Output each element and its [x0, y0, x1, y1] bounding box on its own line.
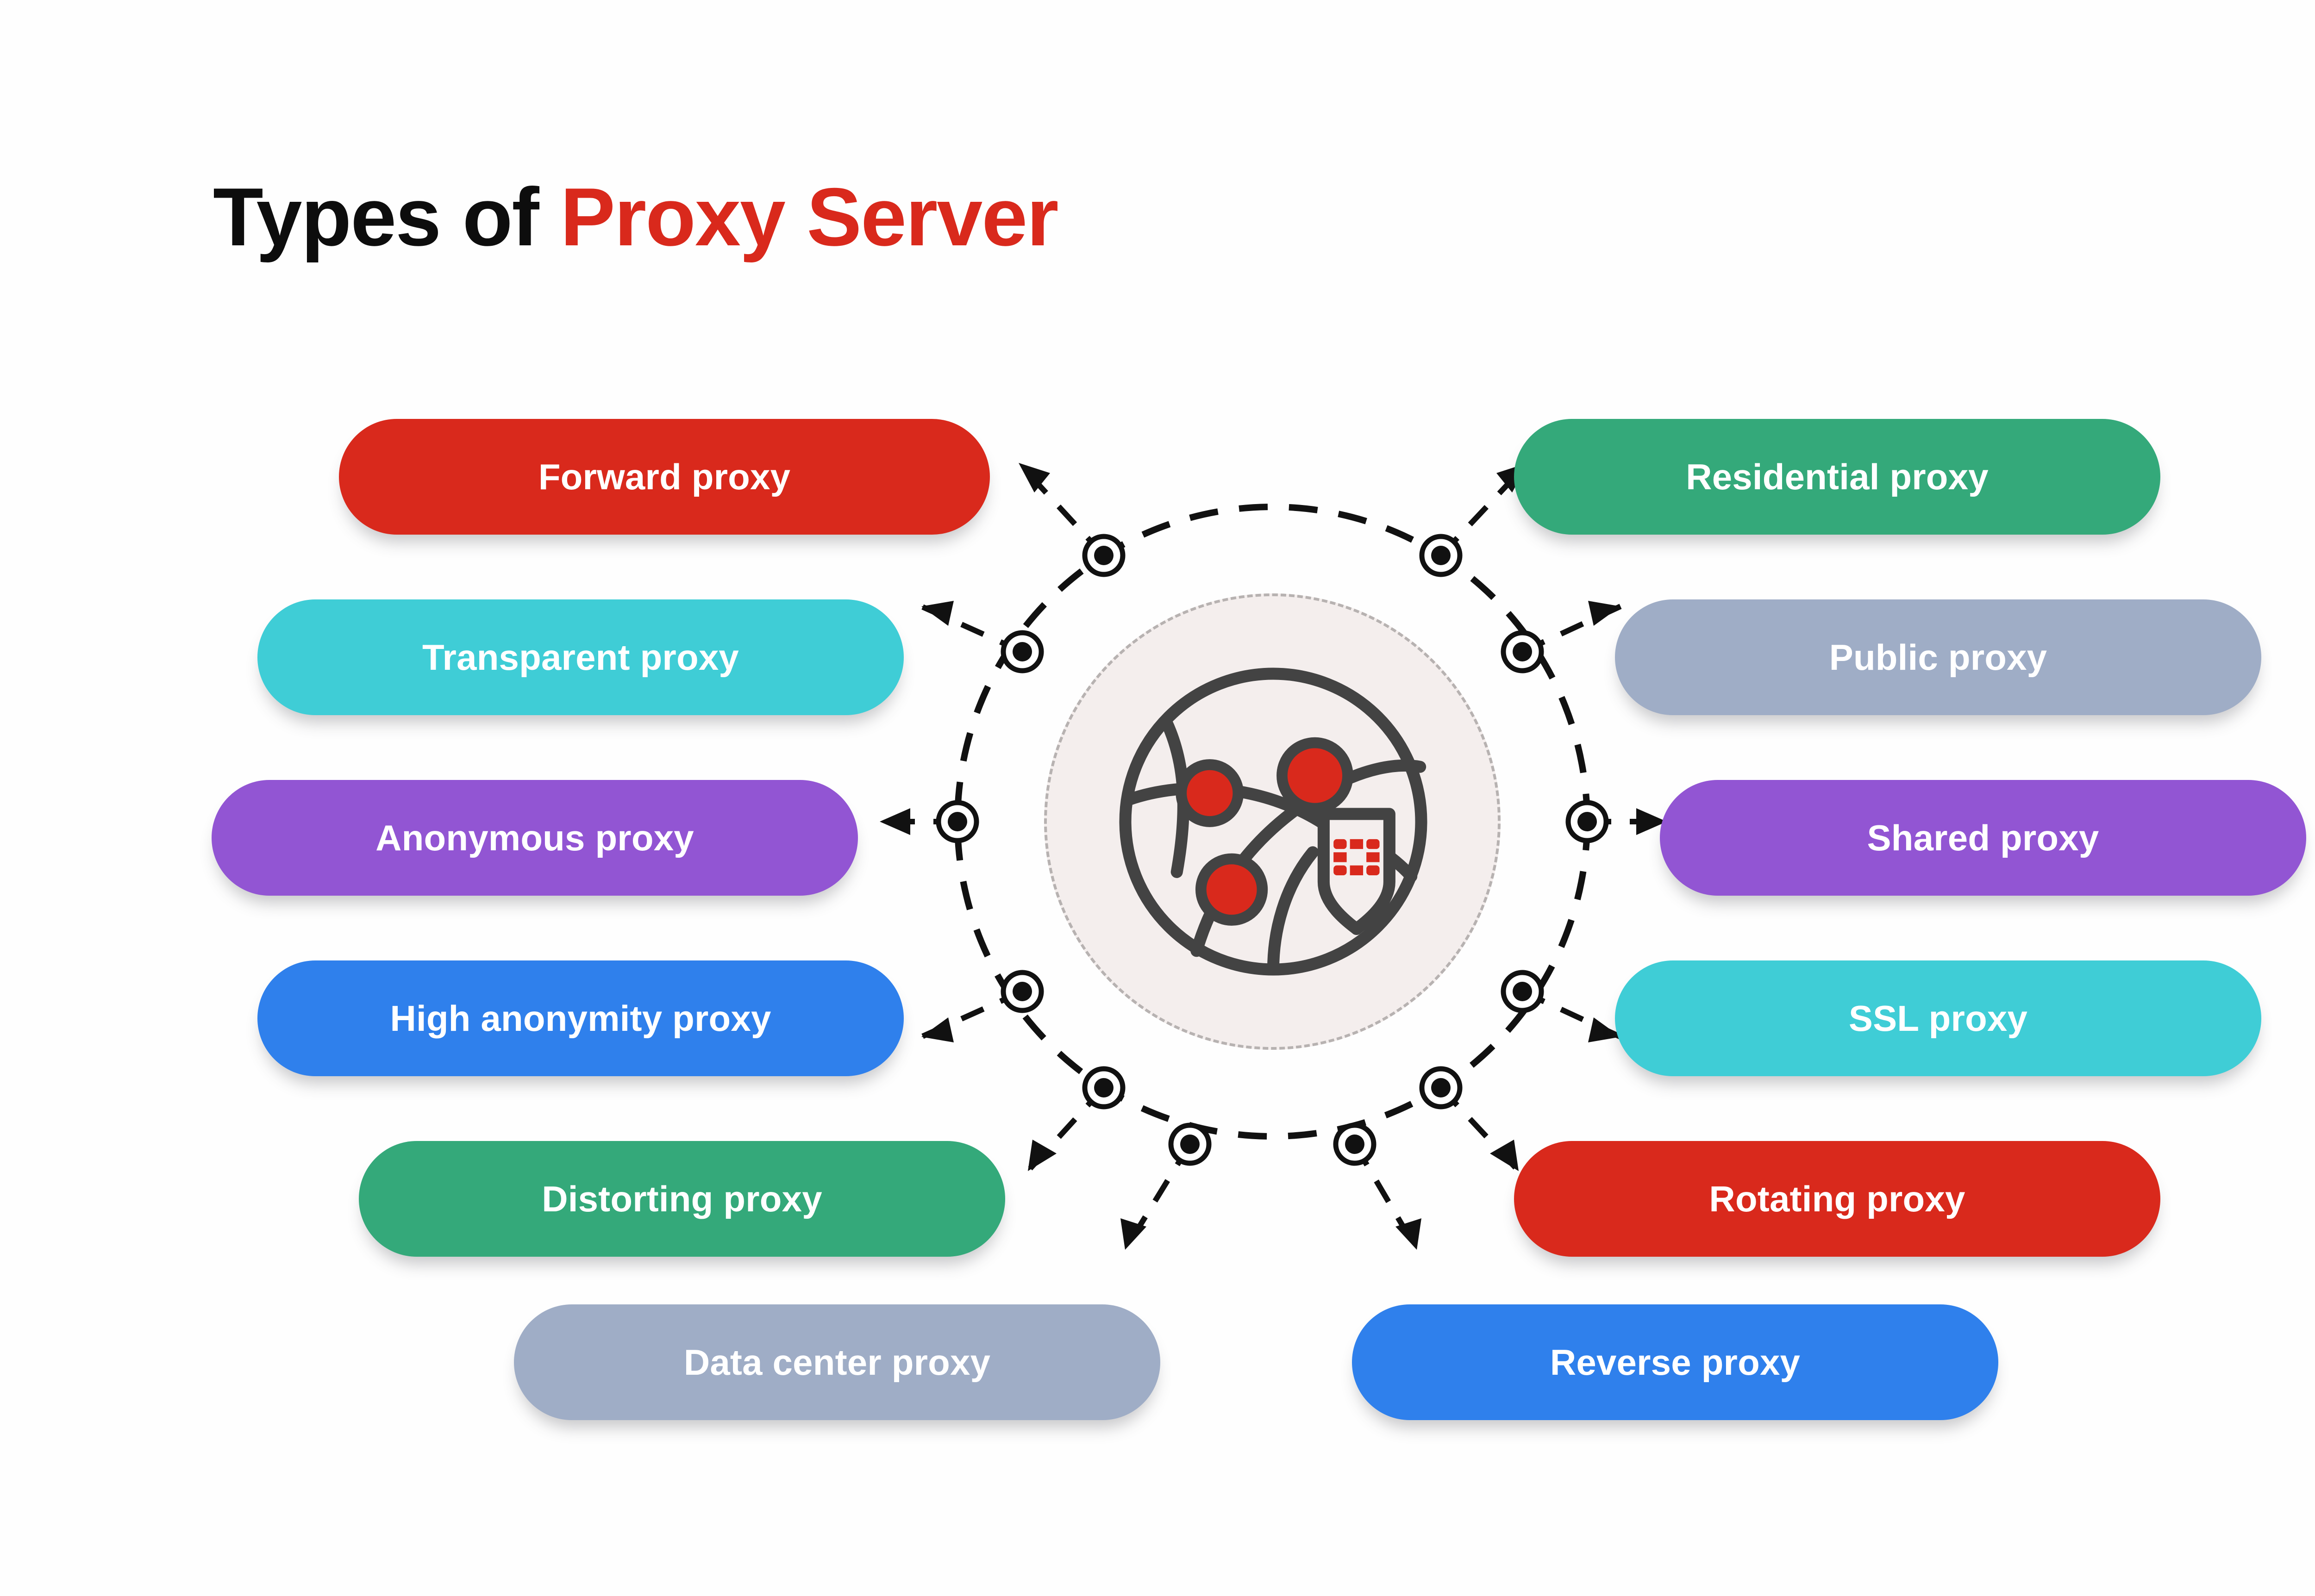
pill-public-proxy[interactable]: Public proxy [1615, 599, 2261, 715]
pill-transparent-proxy[interactable]: Transparent proxy [257, 599, 904, 715]
pill-distorting-proxy[interactable]: Distorting proxy [359, 1141, 1005, 1257]
globe-network-shield-icon [1109, 657, 1438, 986]
pill-label: Transparent proxy [422, 636, 739, 679]
pill-label: Rotating proxy [1709, 1178, 1965, 1220]
pill-shared-proxy[interactable]: Shared proxy [1660, 780, 2306, 896]
pill-label: Anonymous proxy [375, 817, 694, 859]
pill-label: Public proxy [1829, 636, 2047, 679]
pill-data-center-proxy[interactable]: Data center proxy [514, 1304, 1160, 1420]
pill-residential-proxy[interactable]: Residential proxy [1514, 419, 2160, 535]
pill-label: SSL proxy [1849, 997, 2027, 1040]
page-title: Types of Proxy Server [213, 176, 1058, 258]
pill-forward-proxy[interactable]: Forward proxy [339, 419, 990, 535]
pill-label: High anonymity proxy [390, 997, 771, 1040]
pill-rotating-proxy[interactable]: Rotating proxy [1514, 1141, 2160, 1257]
pill-label: Forward proxy [538, 456, 790, 498]
pill-ssl-proxy[interactable]: SSL proxy [1615, 960, 2261, 1076]
pill-label: Shared proxy [1867, 817, 2099, 859]
pill-reverse-proxy[interactable]: Reverse proxy [1352, 1304, 1998, 1420]
page-title-primary: Types of [213, 171, 560, 263]
pill-label: Reverse proxy [1550, 1341, 1800, 1384]
pill-anonymous-proxy[interactable]: Anonymous proxy [212, 780, 858, 896]
pill-label: Distorting proxy [542, 1178, 822, 1220]
pill-label: Residential proxy [1686, 456, 1989, 498]
pill-high-anonymity-proxy[interactable]: High anonymity proxy [257, 960, 904, 1076]
page-title-accent: Proxy Server [560, 171, 1057, 263]
pill-label: Data center proxy [684, 1341, 990, 1384]
